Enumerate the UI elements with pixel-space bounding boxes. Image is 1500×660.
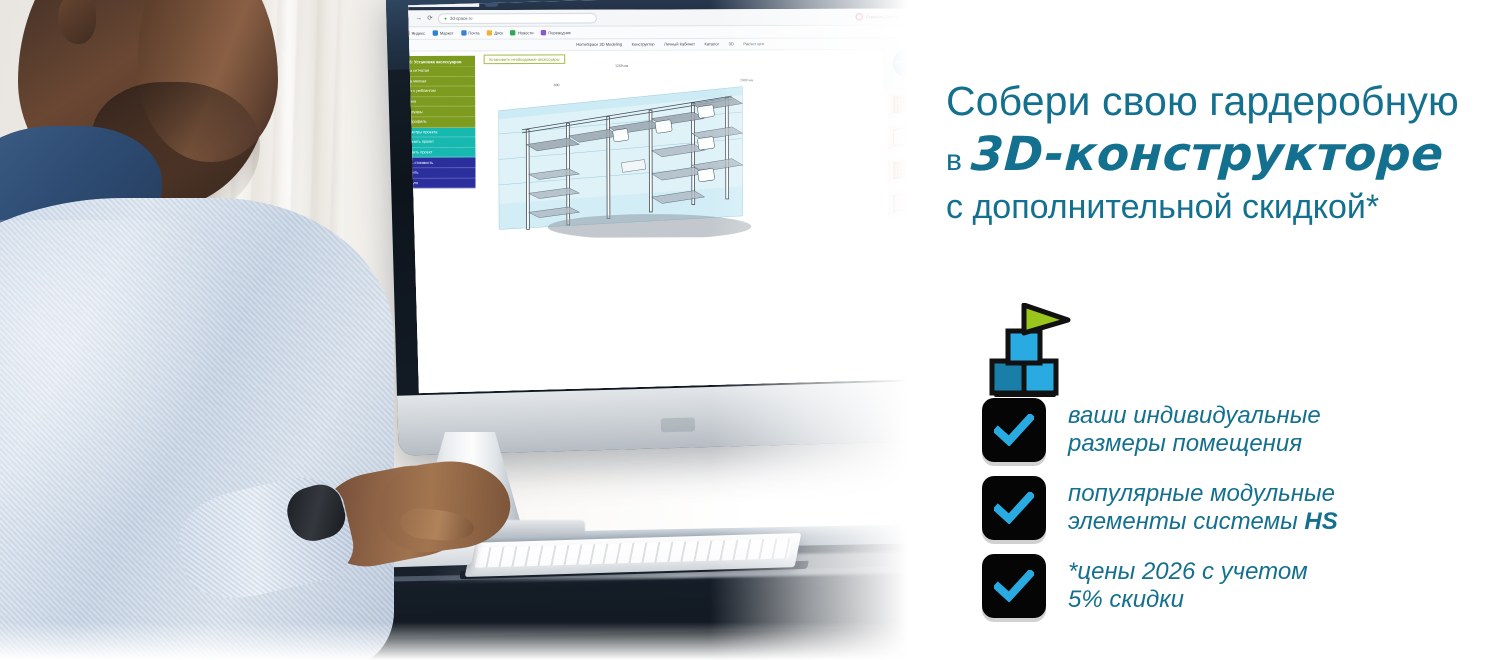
photo-right-fade: [710, 0, 940, 660]
bookmark-favicon-icon: [511, 30, 516, 35]
feature-text-line-1: популярные модульные: [1068, 480, 1338, 508]
bookmark-label: Переводчик: [548, 30, 570, 34]
feature-text-line-1: ваши индивидуальные: [1068, 402, 1321, 430]
feature-text: *цены 2026 с учетом 5% скидки: [1068, 558, 1308, 615]
checkbox-checked[interactable]: [982, 554, 1046, 618]
check-icon: [994, 414, 1034, 446]
headline-accent: 3D-конструкторе: [970, 129, 1445, 182]
workspace-photo: HomeSpace 3D Модели × + — □ ✕ ← →: [0, 0, 940, 660]
feature-item: ваши индивидуальные размеры помещения: [982, 398, 1482, 462]
photo-bottom-fade: [0, 622, 940, 660]
feature-text-line-1: *цены 2026 с учетом: [1068, 558, 1308, 586]
feature-text: ваши индивидуальные размеры помещения: [1068, 402, 1321, 459]
feature-list: ваши индивидуальные размеры помещения по…: [982, 398, 1482, 618]
feature-item: *цены 2026 с учетом 5% скидки: [982, 554, 1482, 618]
checkbox-checked[interactable]: [982, 398, 1046, 462]
check-icon: [994, 570, 1034, 602]
bookmark-item[interactable]: Почта: [461, 30, 480, 35]
bookmark-item[interactable]: Новости: [511, 30, 534, 35]
bookmark-label: Маркет: [440, 31, 454, 35]
bookmark-label: Новости: [518, 31, 534, 35]
check-icon: [994, 492, 1034, 524]
headline: Собери свою гардеробную в 3D-конструктор…: [946, 80, 1492, 226]
headline-preposition: в: [946, 144, 962, 178]
url-text: 3d-space.ru: [450, 15, 472, 20]
person-using-computer: [0, 0, 440, 660]
building-blocks-flag-icon: [986, 303, 1082, 403]
headline-line-3: с дополнительной скидкой*: [946, 189, 1492, 226]
bookmark-label[interactable]: Конструктор: [632, 42, 655, 46]
bookmark-favicon-icon: [487, 30, 492, 35]
bookmark-item[interactable]: Диск: [487, 30, 503, 35]
bookmark-label[interactable]: HomeSpace 3D Modeling: [576, 42, 622, 46]
bookmark-favicon-icon: [461, 30, 466, 35]
bookmark-item[interactable]: Переводчик: [541, 30, 571, 35]
hs-brand-label: HS: [1304, 508, 1337, 535]
feature-text-line-2-main: элементы системы: [1068, 508, 1298, 535]
apple-logo-icon: [661, 417, 695, 432]
bookmark-label: Почта: [468, 31, 479, 35]
url-input[interactable]: ● 3d-space.ru: [438, 12, 597, 23]
bookmark-label[interactable]: Личный Кабинет: [664, 42, 695, 46]
lock-icon: ●: [444, 16, 447, 21]
headline-line-2: в 3D-конструкторе: [946, 129, 1492, 182]
feature-item: популярные модульные элементы системы HS: [982, 476, 1482, 540]
feature-text-line-2: элементы системы HS: [1068, 508, 1338, 536]
marketing-panel: Собери свою гардеробную в 3D-конструктор…: [930, 0, 1500, 660]
feature-text-line-2: размеры помещения: [1068, 430, 1321, 458]
checkbox-checked[interactable]: [982, 476, 1046, 540]
bookmark-favicon-icon: [541, 30, 546, 35]
feature-text-line-2: 5% скидки: [1068, 586, 1308, 614]
shirt-highlight: [0, 220, 240, 550]
promo-banner: HomeSpace 3D Модели × + — □ ✕ ← →: [0, 0, 1500, 660]
feature-text: популярные модульные элементы системы HS: [1068, 480, 1338, 537]
viewport-hint: Установите необходимые аксессуары: [484, 54, 565, 64]
bookmark-label: Диск: [494, 31, 503, 35]
headline-line-1: Собери свою гардеробную: [946, 80, 1492, 123]
